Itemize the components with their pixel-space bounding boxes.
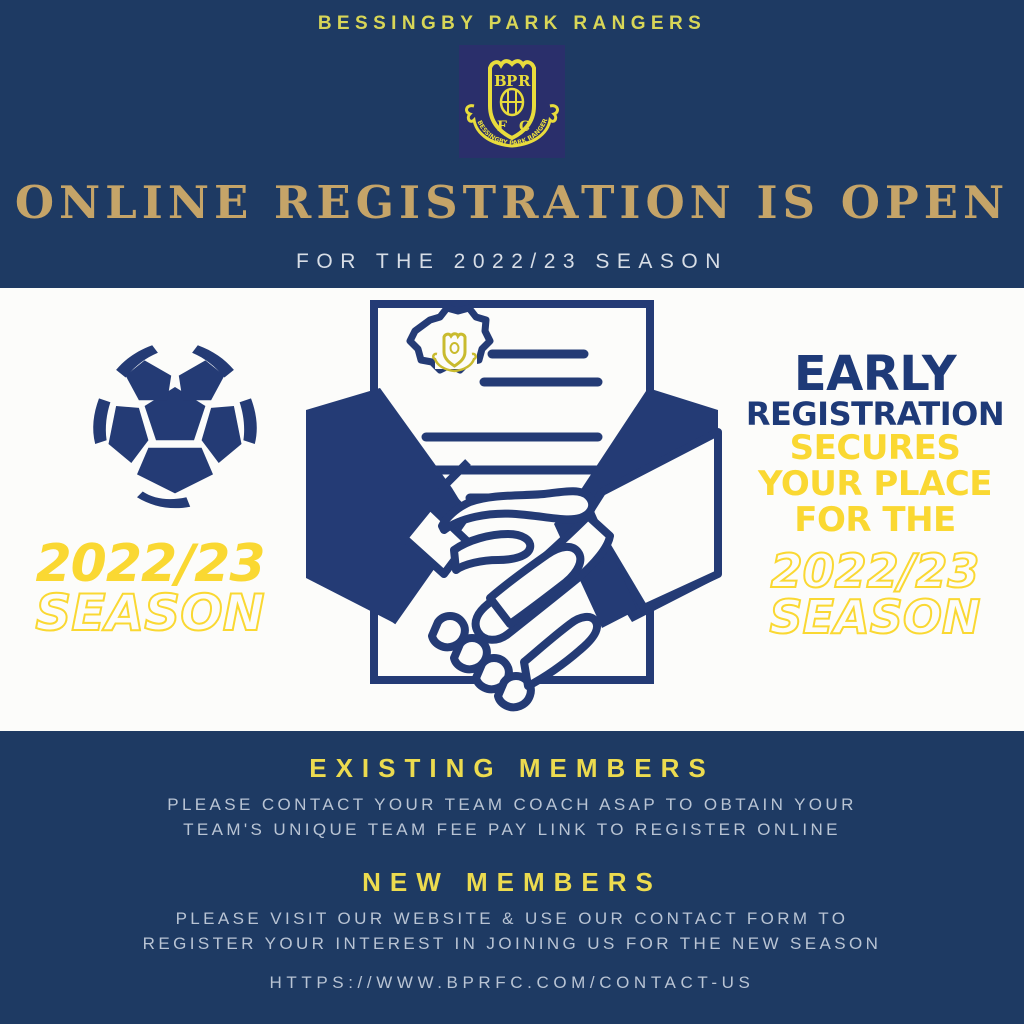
svg-text:P: P xyxy=(506,72,517,90)
registration-text: REGISTRATION xyxy=(726,398,1024,431)
left-season-tag: 2022/23 SEASON xyxy=(0,540,300,638)
page-subtitle: FOR THE 2022/23 SEASON xyxy=(0,250,1024,274)
svg-text:C: C xyxy=(519,119,530,135)
soccer-ball-icon xyxy=(80,330,270,520)
svg-text:R: R xyxy=(518,72,531,90)
early-text: EARLY xyxy=(726,352,1024,398)
right-season-year: 2022/23 xyxy=(726,548,1024,594)
for-the-text: FOR THE xyxy=(726,502,1024,538)
svg-text:B: B xyxy=(494,72,507,90)
early-registration-block: EARLY REGISTRATION SECURES YOUR PLACE FO… xyxy=(726,352,1024,538)
club-name: BESSINGBY PARK RANGERS xyxy=(0,13,1024,35)
existing-body-line-1: PLEASE CONTACT YOUR TEAM COACH ASAP TO O… xyxy=(0,793,1024,818)
club-crest-icon: B P R F C BESSINGBY PARK RANGERS F.C. xyxy=(459,45,565,158)
handshake-document-icon xyxy=(292,292,732,732)
existing-members-body: PLEASE CONTACT YOUR TEAM COACH ASAP TO O… xyxy=(0,793,1024,842)
secures-text: SECURES xyxy=(726,430,1024,466)
page-title: ONLINE REGISTRATION IS OPEN xyxy=(0,176,1024,229)
footer-band: EXISTING MEMBERS PLEASE CONTACT YOUR TEA… xyxy=(0,731,1024,1024)
your-place-text: YOUR PLACE xyxy=(726,466,1024,502)
new-body-line-2: REGISTER YOUR INTEREST IN JOINING US FOR… xyxy=(0,932,1024,957)
new-body-line-1: PLEASE VISIT OUR WEBSITE & USE OUR CONTA… xyxy=(0,907,1024,932)
svg-text:F: F xyxy=(497,119,507,135)
contact-url-link[interactable]: HTTPS://WWW.BPRFC.COM/CONTACT-US xyxy=(0,973,1024,993)
poster-root: BESSINGBY PARK RANGERS B P R F C xyxy=(0,0,1024,1024)
new-members-heading: NEW MEMBERS xyxy=(0,867,1024,898)
new-members-body: PLEASE VISIT OUR WEBSITE & USE OUR CONTA… xyxy=(0,907,1024,956)
right-season-tag: 2022/23 SEASON xyxy=(726,548,1024,641)
right-season-word: SEASON xyxy=(726,594,1024,641)
left-season-year: 2022/23 xyxy=(0,540,300,589)
existing-body-line-2: TEAM'S UNIQUE TEAM FEE PAY LINK TO REGIS… xyxy=(0,818,1024,843)
existing-members-heading: EXISTING MEMBERS xyxy=(0,753,1024,784)
left-season-word: SEASON xyxy=(0,589,300,638)
header-band: BESSINGBY PARK RANGERS B P R F C xyxy=(0,0,1024,288)
